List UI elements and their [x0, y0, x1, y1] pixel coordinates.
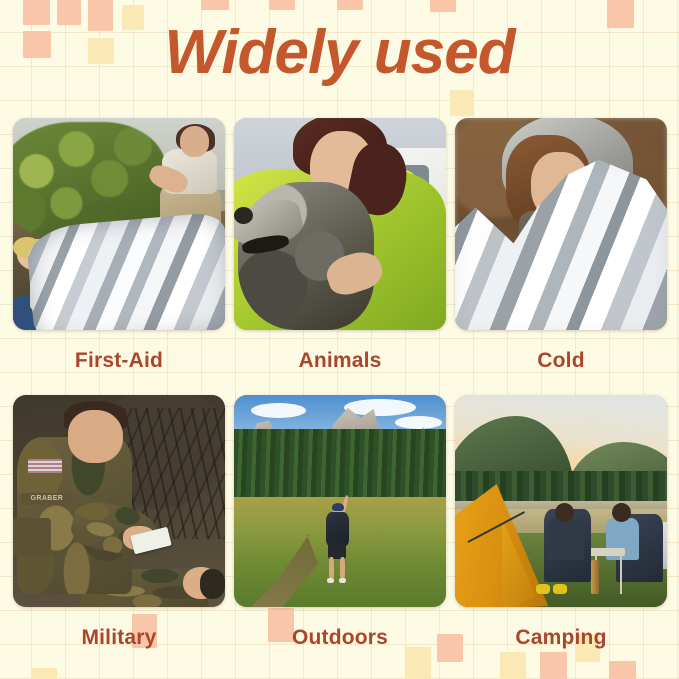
- hiker-figure: [319, 501, 357, 582]
- image-camping[interactable]: [455, 395, 667, 607]
- hiker-backpack: [326, 512, 349, 546]
- camper-head: [555, 503, 574, 522]
- feature-grid: First-Aid DIEREN: [13, 118, 668, 650]
- table-leg: [620, 556, 622, 594]
- caption-cold: Cold: [455, 330, 667, 373]
- page-title: Widely used: [0, 16, 679, 90]
- camp-table: [586, 548, 624, 556]
- hiker-cap: [332, 503, 344, 512]
- decorative-square: [269, 0, 295, 10]
- grid-row-bottom: GRABER Military: [13, 395, 668, 650]
- image-military[interactable]: GRABER: [13, 395, 225, 607]
- hiker-leg: [340, 557, 345, 580]
- camp-sandal: [553, 584, 568, 595]
- image-outdoors[interactable]: [234, 395, 446, 607]
- poster-canvas: Widely used: [0, 0, 679, 679]
- decorative-square: [337, 0, 363, 10]
- camp-sandal: [536, 584, 551, 595]
- caption-first-aid: First-Aid: [13, 330, 225, 373]
- grid-row-top: First-Aid DIEREN: [13, 118, 668, 373]
- decorative-square: [430, 0, 456, 12]
- hiker-shoe: [327, 578, 334, 584]
- caption-outdoors: Outdoors: [234, 607, 446, 650]
- decorative-square: [201, 0, 229, 10]
- shoulder-patch: [28, 459, 62, 474]
- rescuer-head: [180, 126, 209, 157]
- decorative-square: [405, 647, 431, 679]
- caption-military: Military: [13, 607, 225, 650]
- name-tape-text: GRABER: [31, 495, 64, 502]
- decorative-square: [31, 668, 57, 679]
- pine-forest: [234, 429, 446, 501]
- grid-cell-animals[interactable]: DIEREN Animals: [234, 118, 446, 373]
- casualty-helmet: [200, 569, 225, 599]
- decorative-square: [450, 90, 474, 116]
- camper-head: [612, 503, 631, 522]
- hiker-shoe: [339, 578, 346, 584]
- medic-head: [68, 410, 123, 463]
- equipment-pouch: [13, 518, 51, 556]
- grid-cell-military[interactable]: GRABER Military: [13, 395, 225, 650]
- grid-cell-first-aid[interactable]: First-Aid: [13, 118, 225, 373]
- image-cold[interactable]: [455, 118, 667, 330]
- grid-cell-cold[interactable]: Cold: [455, 118, 667, 373]
- decorative-square: [500, 652, 526, 679]
- cloud: [395, 416, 442, 429]
- caption-camping: Camping: [455, 607, 667, 650]
- grid-cell-camping[interactable]: Camping: [455, 395, 667, 650]
- camper-body: [548, 518, 584, 560]
- dog-nose: [234, 207, 253, 224]
- image-animals[interactable]: DIEREN: [234, 118, 446, 330]
- image-first-aid[interactable]: [13, 118, 225, 330]
- decorative-square: [609, 661, 636, 679]
- hiker-leg: [329, 557, 334, 580]
- thermos-flask: [591, 560, 599, 594]
- name-tape: GRABER: [21, 493, 72, 506]
- decorative-square: [540, 652, 567, 679]
- grid-cell-outdoors[interactable]: Outdoors: [234, 395, 446, 650]
- emergency-blanket: [25, 211, 225, 330]
- caption-animals: Animals: [234, 330, 446, 373]
